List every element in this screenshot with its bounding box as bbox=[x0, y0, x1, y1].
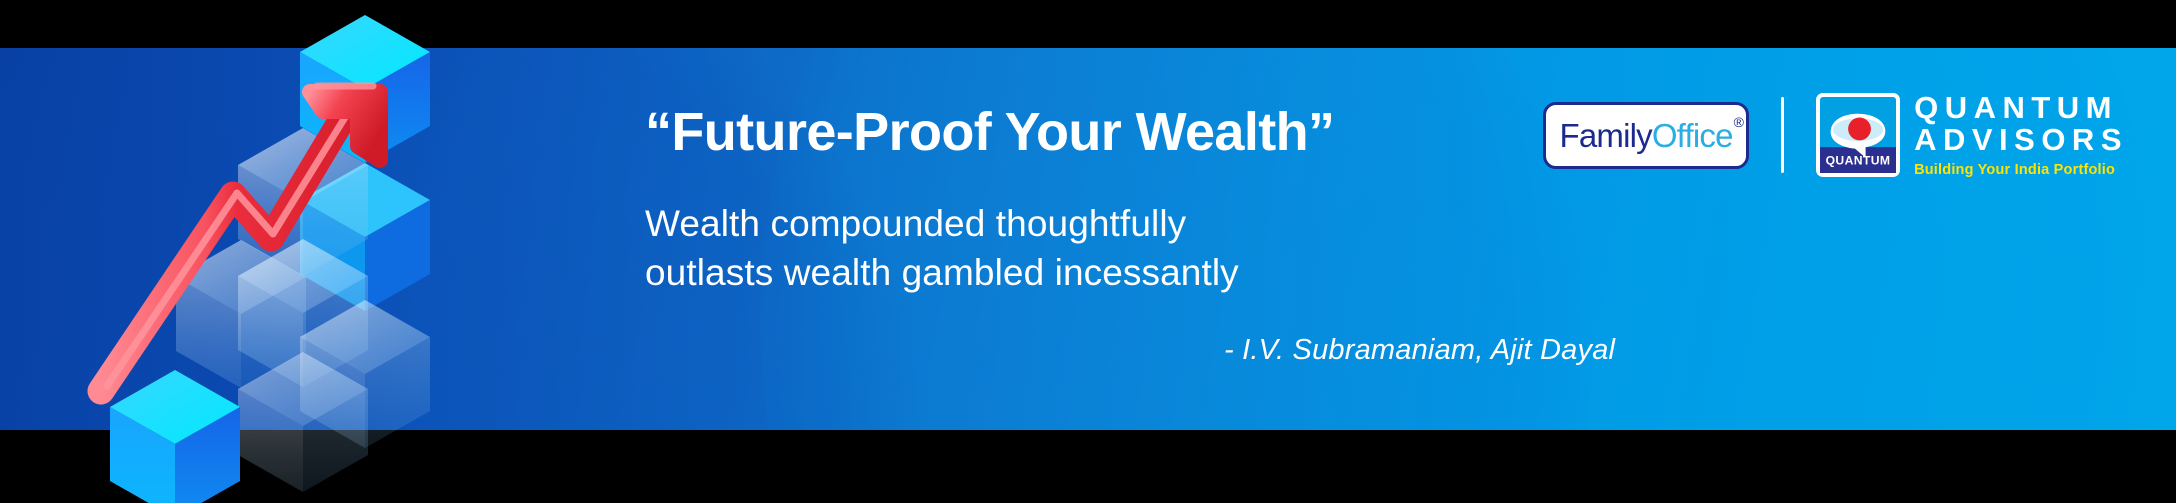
quantum-word-line-2: ADVISORS bbox=[1914, 124, 2128, 156]
subtitle-line-1: Wealth compounded thoughtfully bbox=[645, 200, 1239, 249]
svg-text:QUANTUM: QUANTUM bbox=[1826, 154, 1891, 168]
subtitle: Wealth compounded thoughtfully outlasts … bbox=[645, 200, 1239, 298]
logo-divider bbox=[1781, 97, 1784, 173]
attribution-text: - I.V. Subramaniam, Ajit Dayal bbox=[1224, 334, 1615, 367]
logo-cluster: FamilyOffice® QUANTUM bbox=[1543, 80, 2128, 190]
banner-canvas: “Future-Proof Your Wealth” Wealth compou… bbox=[0, 0, 2176, 503]
quantum-mark-icon: QUANTUM bbox=[1816, 93, 1900, 177]
promo-banner: “Future-Proof Your Wealth” Wealth compou… bbox=[0, 48, 2176, 430]
quantum-tagline: Building Your India Portfolio bbox=[1914, 162, 2128, 178]
family-office-logo[interactable]: FamilyOffice® bbox=[1543, 102, 1749, 169]
quantum-word-line-1: QUANTUM bbox=[1914, 92, 2128, 124]
page-title: “Future-Proof Your Wealth” bbox=[645, 103, 1334, 162]
registered-trademark-icon: ® bbox=[1734, 115, 1744, 129]
quantum-advisors-wordmark: QUANTUM ADVISORS Building Your India Por… bbox=[1914, 93, 2128, 177]
banner-content: “Future-Proof Your Wealth” Wealth compou… bbox=[0, 48, 2176, 430]
family-office-word-family: Family bbox=[1559, 117, 1651, 154]
subtitle-line-2: outlasts wealth gambled incessantly bbox=[645, 249, 1239, 298]
family-office-wordmark: FamilyOffice® bbox=[1559, 119, 1732, 152]
quantum-advisors-logo[interactable]: QUANTUM QUANTUM ADVISORS Building Your I… bbox=[1816, 93, 2128, 177]
family-office-word-office: Office bbox=[1652, 117, 1733, 154]
